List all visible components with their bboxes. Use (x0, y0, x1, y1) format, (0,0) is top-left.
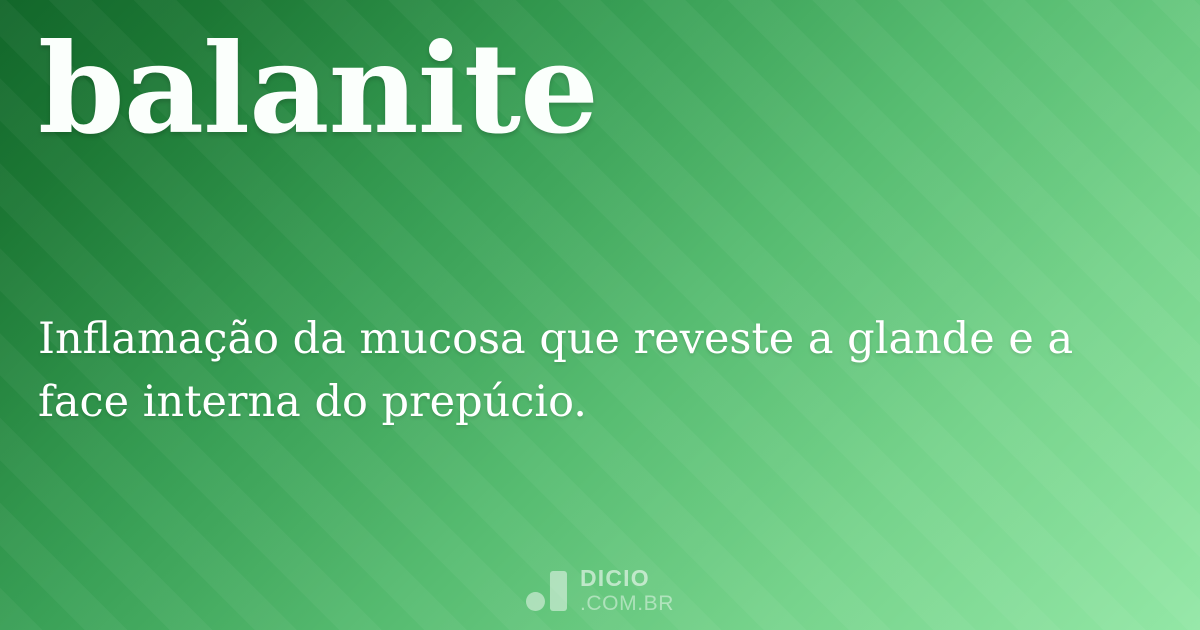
entry-definition-text: Inflamação da mucosa que reveste a gland… (38, 308, 1128, 434)
dicio-logo: DICIO .COM.BR (526, 567, 674, 614)
dicio-logo-text: DICIO .COM.BR (580, 567, 674, 614)
logo-bar-icon (550, 571, 567, 611)
logo-brand-name: DICIO (580, 567, 674, 590)
dicio-logo-mark-icon (526, 569, 569, 613)
logo-brand-tld: .COM.BR (580, 593, 674, 614)
dictionary-entry-card: balanite Inflamação da mucosa que revest… (0, 0, 1200, 630)
entry-word-title: balanite (38, 28, 598, 152)
logo-circle-icon (526, 592, 545, 611)
card-content: balanite Inflamação da mucosa que revest… (38, 0, 1162, 630)
